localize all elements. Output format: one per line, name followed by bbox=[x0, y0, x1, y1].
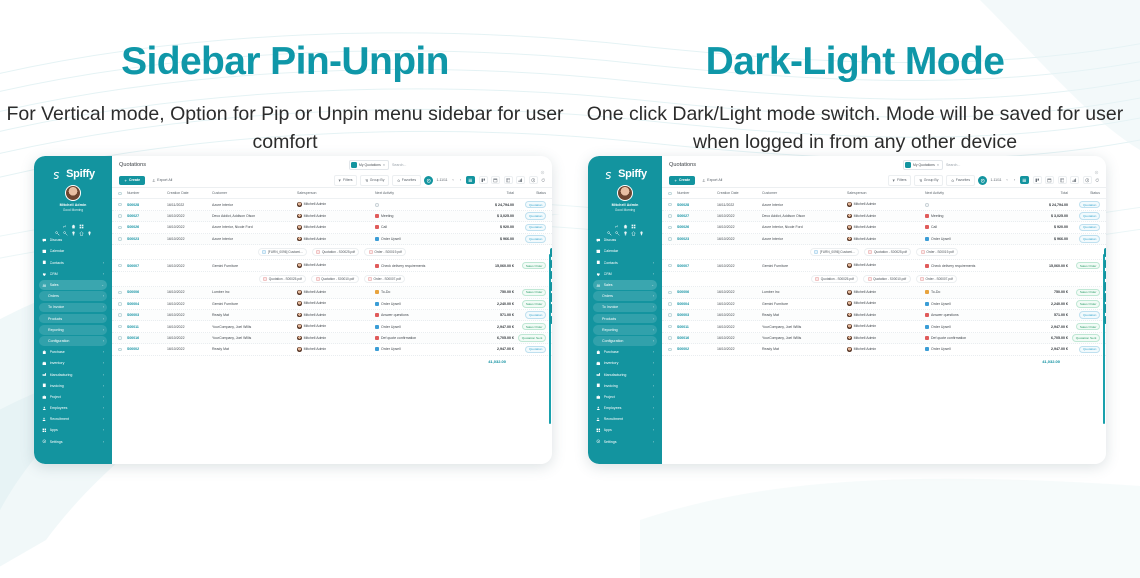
chevron-right-icon[interactable]: › bbox=[653, 272, 654, 276]
cell-salesperson: Mitchell Admin bbox=[297, 263, 375, 268]
chevron-right-icon[interactable]: › bbox=[103, 339, 104, 343]
attachment-chip[interactable]: Quotation - S00010.pdf bbox=[863, 275, 910, 283]
row-checkbox[interactable] bbox=[668, 313, 677, 317]
chevron-right-icon[interactable]: › bbox=[653, 440, 654, 444]
sidebar-item-to-invoice[interactable]: To Invoice› bbox=[39, 303, 107, 313]
table-row[interactable]: S0002616/10/2022Azure Interior, Nicole F… bbox=[662, 222, 1106, 233]
table-row[interactable]: S0002316/10/2022Azure InteriorMitchell A… bbox=[112, 234, 552, 245]
chat-icon bbox=[596, 238, 601, 243]
table-row[interactable]: S0001616/10/2022YourCompany, Joel Willis… bbox=[112, 333, 552, 344]
search-area[interactable]: My Quotations×Search... bbox=[349, 160, 534, 170]
grid-icon[interactable] bbox=[631, 216, 636, 221]
sidebar-item-label: Recruitment bbox=[604, 417, 650, 421]
pager-label[interactable]: 1-11/11 bbox=[437, 178, 448, 182]
chevron-right-icon[interactable]: › bbox=[103, 428, 104, 432]
filters-button[interactable]: Filters bbox=[888, 175, 911, 185]
attachment-chip[interactable]: Quotation - S00025.pdf bbox=[811, 275, 858, 283]
avatar bbox=[847, 202, 852, 207]
salesperson-name: Mitchell Admin bbox=[854, 347, 877, 351]
cell-number[interactable]: S00002 bbox=[677, 347, 717, 351]
row-checkbox[interactable] bbox=[118, 264, 127, 268]
row-checkbox[interactable] bbox=[668, 348, 677, 352]
pin-icon bbox=[639, 231, 644, 236]
brand-name: Spiffy bbox=[618, 168, 647, 180]
chevron-right-icon[interactable]: › bbox=[653, 317, 654, 321]
row-checkbox[interactable] bbox=[118, 226, 127, 230]
row-checkbox[interactable] bbox=[118, 237, 127, 241]
chevron-right-icon[interactable]: › bbox=[653, 294, 654, 298]
cell-number[interactable]: S00027 bbox=[127, 214, 167, 218]
table-row[interactable]: S0002316/10/2022Azure InteriorMitchell A… bbox=[662, 234, 1106, 245]
export-icon bbox=[152, 179, 156, 183]
sidebar-item-invoicing[interactable]: Invoicing› bbox=[593, 381, 657, 391]
gear-icon[interactable] bbox=[540, 162, 545, 167]
search-input[interactable]: Search... bbox=[946, 163, 960, 167]
table-row[interactable]: S0000416/10/2022Gemini FurnitureMitchell… bbox=[112, 299, 552, 310]
cell-number[interactable]: S00028 bbox=[127, 203, 167, 207]
activity-label: Check delivery requirements bbox=[381, 264, 425, 268]
search-input[interactable]: Search... bbox=[392, 163, 406, 167]
quick-actions-row-2[interactable] bbox=[588, 223, 662, 228]
cell-number[interactable]: S00006 bbox=[127, 290, 167, 294]
row-checkbox[interactable] bbox=[668, 237, 677, 241]
cell-number[interactable]: S00006 bbox=[677, 290, 717, 294]
sidebar-item-reporting[interactable]: Reporting› bbox=[39, 325, 107, 335]
column-header[interactable]: Creation Date bbox=[167, 191, 212, 195]
sidebar-item-settings[interactable]: Settings› bbox=[593, 437, 657, 447]
chevron-right-icon[interactable]: › bbox=[103, 350, 104, 354]
chevron-right-icon[interactable]: › bbox=[653, 350, 654, 354]
share-icon[interactable] bbox=[550, 316, 553, 325]
chevron-right-icon[interactable]: › bbox=[653, 395, 654, 399]
sidebar-item-manufacturing[interactable]: Manufacturing› bbox=[39, 370, 107, 380]
table-row[interactable]: S0000316/10/2022Ready MatMitchell AdminA… bbox=[112, 310, 552, 321]
cell-number[interactable]: S00027 bbox=[677, 214, 717, 218]
kanban-view-icon[interactable] bbox=[1033, 176, 1042, 184]
expand-icon[interactable] bbox=[550, 271, 553, 280]
attachment-label: [FURN_0096] Customi... bbox=[268, 250, 303, 254]
attachment-chip[interactable]: [FURN_0096] Customi... bbox=[810, 248, 859, 256]
sidebar-item-discuss[interactable]: Discuss bbox=[39, 235, 107, 245]
table-row[interactable]: S0001616/10/2022YourCompany, Joel Willis… bbox=[662, 333, 1106, 344]
pin-icon[interactable] bbox=[639, 223, 644, 228]
cell-number[interactable]: S00016 bbox=[677, 336, 717, 340]
pivot-view-icon[interactable] bbox=[1058, 176, 1067, 184]
sidebar-item-sales[interactable]: Sales⌄ bbox=[593, 280, 657, 290]
sidebar-item-configuration[interactable]: Configuration› bbox=[39, 336, 107, 346]
row-checkbox[interactable] bbox=[118, 325, 127, 329]
export-all-button[interactable]: Export All bbox=[149, 176, 175, 184]
attachment-chip[interactable]: Order - S00019.pdf bbox=[916, 248, 958, 256]
column-header[interactable]: Status bbox=[514, 191, 546, 195]
activity-icon-upsell bbox=[925, 302, 929, 306]
avatar[interactable] bbox=[617, 185, 633, 201]
list-view-icon[interactable] bbox=[466, 176, 475, 184]
bulb-icon[interactable] bbox=[623, 223, 628, 228]
row-checkbox[interactable] bbox=[668, 302, 677, 306]
cell-status: Quotation Sent bbox=[1068, 334, 1100, 342]
apps-icon bbox=[42, 428, 47, 433]
attachment-chip[interactable]: Order - S00019.pdf bbox=[364, 248, 406, 256]
column-header[interactable]: Creation Date bbox=[717, 191, 762, 195]
sidebar-item-crm[interactable]: CRM› bbox=[39, 269, 107, 279]
chevron-right-icon[interactable]: › bbox=[103, 261, 104, 265]
pager-next-icon[interactable]: › bbox=[459, 178, 463, 182]
favorites-button[interactable]: Favorites bbox=[946, 175, 974, 185]
bulb-icon[interactable] bbox=[71, 223, 76, 228]
favorites-button[interactable]: Favorites bbox=[392, 175, 420, 185]
key-alt-icon[interactable] bbox=[615, 223, 620, 228]
user-block[interactable]: Mitchell AdminGood Morning bbox=[588, 185, 662, 212]
group-by-button[interactable]: Group By bbox=[914, 175, 942, 185]
close-icon[interactable]: × bbox=[383, 163, 385, 167]
home-icon[interactable] bbox=[71, 216, 76, 221]
cell-number[interactable]: S00004 bbox=[127, 302, 167, 306]
activity-icon-answer bbox=[375, 313, 379, 317]
sidebar-item-products[interactable]: Products› bbox=[39, 314, 107, 324]
row-checkbox[interactable] bbox=[118, 214, 127, 218]
chevron-right-icon[interactable]: › bbox=[103, 361, 104, 365]
pin-icon[interactable] bbox=[87, 223, 92, 228]
sidebar-item-orders[interactable]: Orders› bbox=[39, 291, 107, 301]
cell-next-activity: Check delivery requirements bbox=[375, 264, 468, 268]
chevron-right-icon[interactable]: › bbox=[103, 417, 104, 421]
brand: Spiffy bbox=[588, 168, 662, 180]
cell-status: Quotation bbox=[514, 346, 546, 354]
table-row[interactable]: S0002816/11/2022Azure InteriorMitchell A… bbox=[662, 199, 1106, 210]
column-header[interactable]: Customer bbox=[762, 191, 847, 195]
table-row[interactable]: S0000616/10/2022Lumber IncMitchell Admin… bbox=[112, 287, 552, 298]
cell-number[interactable]: S00026 bbox=[677, 225, 717, 229]
table-row[interactable]: S0000316/10/2022Ready MatMitchell AdminA… bbox=[662, 310, 1106, 321]
home-alt-icon[interactable] bbox=[79, 223, 84, 228]
save-icon[interactable] bbox=[1104, 293, 1107, 302]
cell-number[interactable]: S00028 bbox=[677, 203, 717, 207]
chevron-down-icon[interactable]: ⌄ bbox=[101, 283, 104, 287]
groupby-icon bbox=[919, 179, 922, 182]
chevron-right-icon[interactable]: › bbox=[103, 406, 104, 410]
cell-total: 571.00 € bbox=[468, 313, 514, 317]
cell-number[interactable]: S00023 bbox=[677, 237, 717, 241]
attachment-chip[interactable]: Order - S00007.pdf bbox=[364, 275, 406, 283]
row-checkbox[interactable] bbox=[668, 336, 677, 340]
attachment-chip[interactable]: Order - S00007.pdf bbox=[916, 275, 958, 283]
avatar[interactable] bbox=[65, 185, 81, 201]
graph-view-icon[interactable] bbox=[516, 176, 525, 184]
home-alt-icon[interactable] bbox=[631, 223, 636, 228]
cell-status: Quotation bbox=[1068, 201, 1100, 209]
activity-view-icon[interactable] bbox=[529, 176, 538, 184]
column-header[interactable]: Customer bbox=[212, 191, 297, 195]
search-tool-icon[interactable] bbox=[550, 260, 553, 269]
sidebar-item-employees[interactable]: Employees› bbox=[593, 403, 657, 413]
chevron-right-icon[interactable]: › bbox=[653, 406, 654, 410]
row-checkbox[interactable] bbox=[668, 264, 677, 268]
row-checkbox[interactable] bbox=[668, 226, 677, 230]
table-row[interactable]: S0002716/10/2022Deco Addict, Addison Ols… bbox=[662, 211, 1106, 222]
pager-prev-icon[interactable]: ‹ bbox=[451, 178, 455, 182]
cell-number[interactable]: S00011 bbox=[127, 325, 167, 329]
attachment-label: Order - S00007.pdf bbox=[925, 277, 952, 281]
sidebar-item-apps[interactable]: Apps› bbox=[593, 426, 657, 436]
row-checkbox[interactable] bbox=[668, 291, 677, 295]
sidebar-item-contacts[interactable]: Contacts› bbox=[593, 258, 657, 268]
chevron-right-icon[interactable]: › bbox=[653, 428, 654, 432]
cell-number[interactable]: S00003 bbox=[127, 313, 167, 317]
home-icon[interactable] bbox=[623, 216, 628, 221]
cell-number[interactable]: S00026 bbox=[127, 225, 167, 229]
select-all-checkbox[interactable] bbox=[668, 192, 677, 196]
chevron-right-icon[interactable]: › bbox=[653, 261, 654, 265]
sidebar-item-label: Employees bbox=[604, 406, 650, 410]
chevron-down-icon[interactable]: ⌄ bbox=[651, 283, 654, 287]
printer-icon[interactable] bbox=[550, 282, 553, 291]
sidebar-item-contacts[interactable]: Contacts› bbox=[39, 258, 107, 268]
chevron-right-icon[interactable]: › bbox=[103, 317, 104, 321]
column-header[interactable]: Salesperson bbox=[847, 191, 925, 195]
row-checkbox[interactable] bbox=[668, 214, 677, 218]
gear-icon[interactable] bbox=[1094, 162, 1099, 167]
link-icon[interactable] bbox=[614, 216, 619, 221]
avatar bbox=[297, 202, 302, 207]
cell-number[interactable]: S00011 bbox=[677, 325, 717, 329]
sidebar-item-sales[interactable]: Sales⌄ bbox=[39, 280, 107, 290]
chevron-right-icon[interactable]: › bbox=[653, 339, 654, 343]
chevron-right-icon[interactable]: › bbox=[653, 373, 654, 377]
sidebar-item-invoicing[interactable]: Invoicing› bbox=[39, 381, 107, 391]
cell-status: Quotation bbox=[1068, 311, 1100, 319]
attachment-chip[interactable]: [FURN_0096] Customi... bbox=[258, 248, 307, 256]
create-button[interactable]: Create bbox=[119, 176, 145, 185]
attachment-label: Quotation - S00025.pdf bbox=[821, 277, 854, 281]
activity-label: Def quote confirmation bbox=[931, 336, 966, 340]
calendar-view-icon[interactable] bbox=[491, 176, 500, 184]
row-checkbox[interactable] bbox=[118, 302, 127, 306]
avatar bbox=[847, 347, 852, 352]
search-facet-my-quotations[interactable]: My Quotations× bbox=[903, 160, 943, 170]
cell-number[interactable]: S00002 bbox=[127, 347, 167, 351]
sidebar-item-inventory[interactable]: Inventory› bbox=[593, 359, 657, 369]
close-icon[interactable]: × bbox=[937, 163, 939, 167]
pager-prev-icon[interactable]: ‹ bbox=[1005, 178, 1009, 182]
inventory-icon bbox=[596, 361, 601, 366]
table-row[interactable]: S0000616/10/2022Lumber IncMitchell Admin… bbox=[662, 287, 1106, 298]
settings-circle-button[interactable] bbox=[424, 176, 433, 185]
grand-total: 41,032.00 bbox=[488, 359, 546, 364]
avatar bbox=[847, 263, 852, 268]
table-row[interactable]: S0001116/10/2022YourCompany, Joel Willis… bbox=[662, 321, 1106, 332]
column-header[interactable]: Total bbox=[1022, 191, 1068, 195]
cell-number[interactable]: S00016 bbox=[127, 336, 167, 340]
avatar bbox=[847, 313, 852, 318]
pin-icon bbox=[87, 231, 92, 236]
printer-icon[interactable] bbox=[1104, 282, 1107, 291]
list-view-icon[interactable] bbox=[1020, 176, 1029, 184]
chevron-right-icon[interactable]: › bbox=[653, 328, 654, 332]
folder-icon[interactable] bbox=[550, 304, 553, 313]
refresh-icon[interactable] bbox=[541, 178, 545, 182]
pager-next-icon[interactable]: › bbox=[1013, 178, 1017, 182]
column-header[interactable]: Number bbox=[677, 191, 717, 195]
key-icon[interactable] bbox=[607, 223, 612, 228]
cell-next-activity: To-Do bbox=[375, 290, 468, 294]
export-all-button[interactable]: Export All bbox=[699, 176, 725, 184]
create-button[interactable]: Create bbox=[669, 176, 695, 185]
chevron-right-icon[interactable]: › bbox=[103, 384, 104, 388]
row-checkbox[interactable] bbox=[118, 313, 127, 317]
chat-icon bbox=[42, 238, 47, 243]
chevron-right-icon[interactable]: › bbox=[653, 361, 654, 365]
create-label: Create bbox=[679, 178, 690, 182]
sidebar-item-settings[interactable]: Settings› bbox=[39, 437, 107, 447]
chevron-right-icon[interactable]: › bbox=[103, 294, 104, 298]
save-icon[interactable] bbox=[550, 293, 553, 302]
cell-creation-date: 16/10/2022 bbox=[167, 225, 212, 229]
group-by-button[interactable]: Group By bbox=[360, 175, 388, 185]
link-icon[interactable] bbox=[62, 216, 67, 221]
sidebar-item-inventory[interactable]: Inventory› bbox=[39, 359, 107, 369]
quick-actions-row-1[interactable] bbox=[34, 216, 112, 221]
chevron-right-icon[interactable]: › bbox=[653, 305, 654, 309]
column-header[interactable]: Total bbox=[468, 191, 514, 195]
sidebar-item-manufacturing[interactable]: Manufacturing› bbox=[593, 370, 657, 380]
project-icon bbox=[596, 395, 601, 400]
cell-number[interactable]: S00004 bbox=[677, 302, 717, 306]
column-header[interactable]: Next Activity bbox=[375, 191, 468, 195]
filters-button[interactable]: Filters bbox=[334, 175, 357, 185]
table-row[interactable]: S0002716/10/2022Deco Addict, Addison Ols… bbox=[112, 211, 552, 222]
sidebar-item-recruitment[interactable]: Recruitment› bbox=[593, 414, 657, 424]
sidebar-item-to-invoice[interactable]: To Invoice› bbox=[593, 303, 657, 313]
sidebar-item-project[interactable]: Project› bbox=[39, 392, 107, 402]
table-row[interactable]: S0000216/10/2022Ready MatMitchell AdminO… bbox=[112, 344, 552, 355]
sidebar-item-calendar[interactable]: Calendar bbox=[593, 247, 657, 257]
kanban-view-icon[interactable] bbox=[479, 176, 488, 184]
row-checkbox[interactable] bbox=[118, 203, 127, 207]
attachment-chip[interactable]: Quotation - S00025.pdf bbox=[259, 275, 306, 283]
chevron-right-icon[interactable]: › bbox=[103, 272, 104, 276]
sidebar-item-reporting[interactable]: Reporting› bbox=[593, 325, 657, 335]
attachment-label: Order - S00007.pdf bbox=[373, 277, 400, 281]
chevron-right-icon[interactable]: › bbox=[103, 440, 104, 444]
attachment-chip[interactable]: Quotation - S00025.pdf bbox=[312, 248, 359, 256]
sidebar-item-orders[interactable]: Orders› bbox=[593, 291, 657, 301]
sidebar-item-configuration[interactable]: Configuration› bbox=[593, 336, 657, 346]
column-header[interactable]: Status bbox=[1068, 191, 1100, 195]
sidebar-menu: DiscussCalendarContacts›CRM›Sales⌄Orders… bbox=[588, 235, 662, 446]
row-checkbox[interactable] bbox=[118, 348, 127, 352]
sidebar-item-recruitment[interactable]: Recruitment› bbox=[39, 414, 107, 424]
attachment-chip[interactable]: Quotation - S00025.pdf bbox=[864, 248, 911, 256]
activity-label: Def quote confirmation bbox=[381, 336, 416, 340]
attachment-chip[interactable]: Quotation - S00010.pdf bbox=[311, 275, 358, 283]
sidebar-item-employees[interactable]: Employees› bbox=[39, 403, 107, 413]
cell-status: Quotation bbox=[1068, 346, 1100, 354]
chevron-right-icon[interactable]: › bbox=[653, 417, 654, 421]
pager-label[interactable]: 1-11/11 bbox=[991, 178, 1002, 182]
key-icon[interactable] bbox=[55, 223, 60, 228]
grid-icon[interactable] bbox=[79, 216, 84, 221]
settings-circle-button[interactable] bbox=[978, 176, 987, 185]
calendar-view-icon[interactable] bbox=[1045, 176, 1054, 184]
star-icon[interactable] bbox=[1104, 248, 1107, 257]
chevron-right-icon[interactable]: › bbox=[103, 373, 104, 377]
cell-number[interactable]: S00003 bbox=[677, 313, 717, 317]
avatar bbox=[297, 214, 302, 219]
chevron-right-icon[interactable]: › bbox=[103, 328, 104, 332]
table-row[interactable]: S0000416/10/2022Gemini FurnitureMitchell… bbox=[662, 299, 1106, 310]
column-header[interactable]: Next Activity bbox=[925, 191, 1022, 195]
search-facet-my-quotations[interactable]: My Quotations× bbox=[349, 160, 389, 170]
chevron-right-icon[interactable]: › bbox=[653, 384, 654, 388]
invoicing-icon bbox=[42, 383, 47, 388]
table-row[interactable]: S0002816/11/2022Azure InteriorMitchell A… bbox=[112, 199, 552, 210]
row-checkbox[interactable] bbox=[668, 325, 677, 329]
refresh-icon[interactable] bbox=[1095, 178, 1099, 182]
column-header[interactable]: Number bbox=[127, 191, 167, 195]
sidebar-item-project[interactable]: Project› bbox=[593, 392, 657, 402]
table-row[interactable]: S0000216/10/2022Ready MatMitchell AdminO… bbox=[662, 344, 1106, 355]
pivot-view-icon[interactable] bbox=[504, 176, 513, 184]
sidebar-item-calendar[interactable]: Calendar bbox=[39, 247, 107, 257]
quick-actions-row-1[interactable] bbox=[588, 216, 662, 221]
cell-number[interactable]: S00023 bbox=[127, 237, 167, 241]
sidebar-item-purchase[interactable]: Purchase› bbox=[593, 347, 657, 357]
cell-next-activity: Def quote confirmation bbox=[375, 336, 468, 340]
quick-actions-row-2[interactable] bbox=[34, 223, 112, 228]
recruitment-icon bbox=[42, 417, 47, 422]
search-area[interactable]: My Quotations×Search... bbox=[903, 160, 1088, 170]
cell-number[interactable]: S00007 bbox=[127, 264, 167, 268]
sidebar-item-products[interactable]: Products› bbox=[593, 314, 657, 324]
salesperson-name: Mitchell Admin bbox=[854, 324, 877, 328]
share-icon[interactable] bbox=[1104, 316, 1107, 325]
activity-label: Order Upsell bbox=[931, 325, 951, 329]
cell-number[interactable]: S00007 bbox=[677, 264, 717, 268]
chevron-right-icon[interactable]: › bbox=[103, 395, 104, 399]
activity-icon-todo bbox=[925, 290, 929, 294]
sales-icon bbox=[42, 283, 47, 288]
search-tool-icon[interactable] bbox=[1104, 260, 1107, 269]
row-checkbox[interactable] bbox=[118, 291, 127, 295]
attachment-label: Quotation - S00010.pdf bbox=[321, 277, 354, 281]
expand-icon[interactable] bbox=[1104, 271, 1107, 280]
row-checkbox[interactable] bbox=[118, 336, 127, 340]
sidebar-item-discuss[interactable]: Discuss bbox=[593, 235, 657, 245]
sidebar-item-crm[interactable]: CRM› bbox=[593, 269, 657, 279]
table-row[interactable]: S0002616/10/2022Azure Interior, Nicole F… bbox=[112, 222, 552, 233]
table-row[interactable]: S0000716/10/2022Gemini FurnitureMitchell… bbox=[662, 260, 1106, 271]
graph-view-icon[interactable] bbox=[1070, 176, 1079, 184]
cell-status: Sales Order bbox=[514, 262, 546, 270]
user-block[interactable]: Mitchell AdminGood Morning bbox=[34, 185, 112, 212]
sidebar-item-purchase[interactable]: Purchase› bbox=[39, 347, 107, 357]
row-checkbox[interactable] bbox=[668, 203, 677, 207]
table-row[interactable]: S0001116/10/2022YourCompany, Joel Willis… bbox=[112, 321, 552, 332]
activity-view-icon[interactable] bbox=[1083, 176, 1092, 184]
salesperson-name: Mitchell Admin bbox=[854, 336, 877, 340]
column-header[interactable]: Salesperson bbox=[297, 191, 375, 195]
star-icon[interactable] bbox=[550, 248, 553, 257]
chevron-right-icon[interactable]: › bbox=[103, 305, 104, 309]
sidebar-item-apps[interactable]: Apps› bbox=[39, 426, 107, 436]
key-alt-icon[interactable] bbox=[63, 223, 68, 228]
table-row[interactable]: S0000716/10/2022Gemini FurnitureMitchell… bbox=[112, 260, 552, 271]
select-all-checkbox[interactable] bbox=[118, 192, 127, 196]
attachment-label: Quotation - S00025.pdf bbox=[322, 250, 355, 254]
gear-icon bbox=[980, 178, 985, 183]
folder-icon[interactable] bbox=[1104, 304, 1107, 313]
